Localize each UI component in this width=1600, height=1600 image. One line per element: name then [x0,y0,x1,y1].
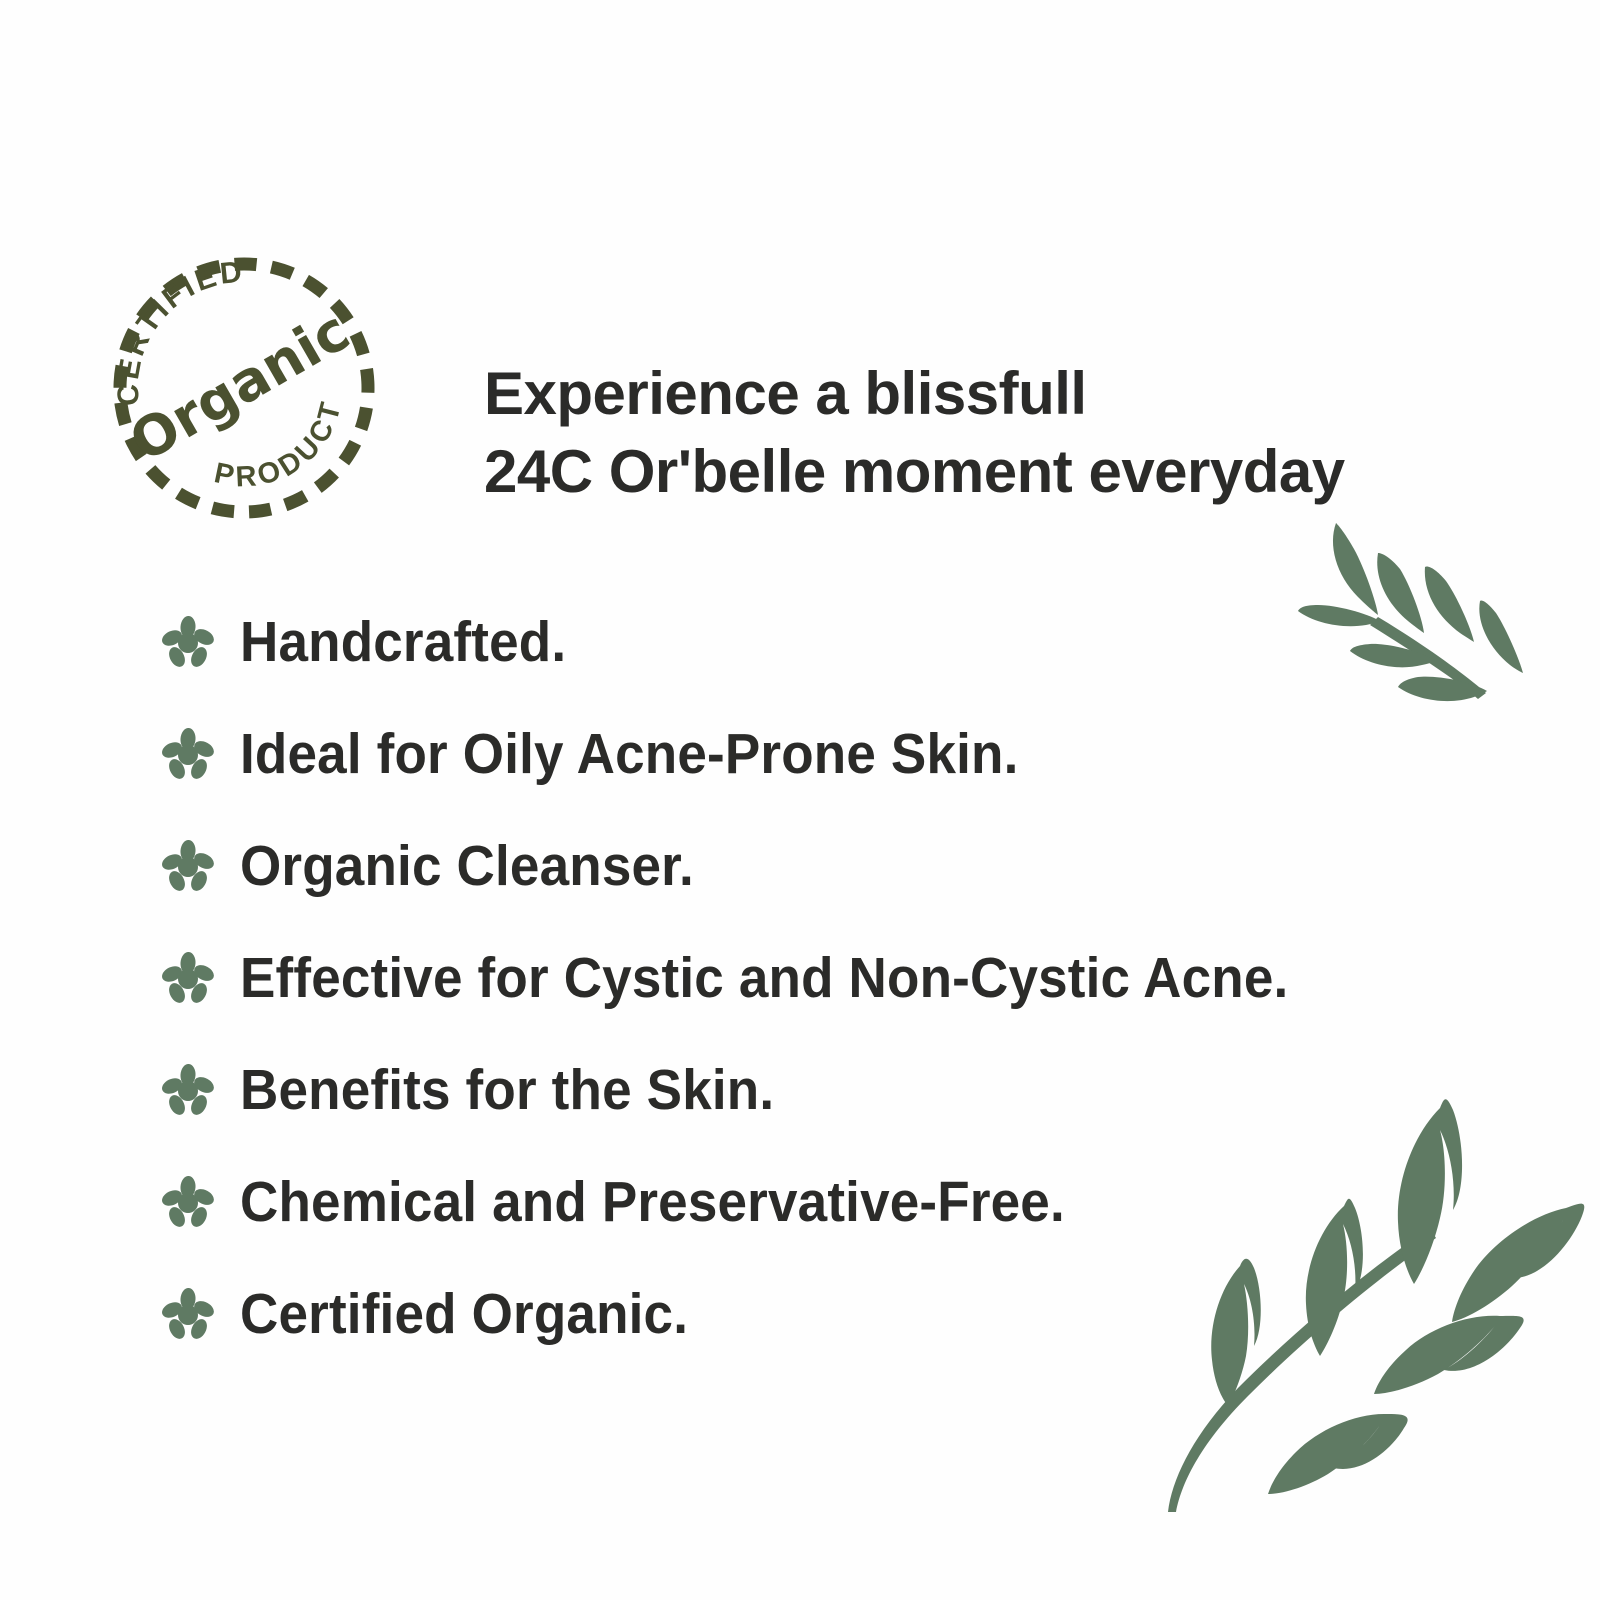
flower-asterisk-icon [162,1176,214,1228]
flower-asterisk-icon [162,840,214,892]
list-item-label: Chemical and Preservative-Free. [240,1172,1065,1232]
flower-asterisk-icon [162,616,214,668]
page-title: Experience a blissfull 24C Or'belle mome… [484,355,1544,511]
list-item-label: Certified Organic. [240,1284,688,1344]
flower-asterisk-icon [162,952,214,1004]
list-item-label: Ideal for Oily Acne-Prone Skin. [240,724,1019,784]
list-item-label: Benefits for the Skin. [240,1060,774,1120]
leaf-branch-bottom-right [1168,1088,1600,1518]
product-benefits-graphic: CERTIFIED PRODUCT Organic Experience a b… [0,0,1600,1600]
flower-asterisk-icon [162,1064,214,1116]
list-item-label: Effective for Cystic and Non-Cystic Acne… [240,948,1288,1008]
headline-line-1: Experience a blissfull [484,355,1544,433]
headline-line-2: 24C Or'belle moment everyday [484,433,1544,511]
list-item-label: Organic Cleanser. [240,836,694,896]
flower-asterisk-icon [162,728,214,780]
flower-asterisk-icon [162,1288,214,1340]
list-item-label: Handcrafted. [240,612,566,672]
certified-organic-badge: CERTIFIED PRODUCT Organic [108,252,380,524]
list-item: Organic Cleanser. [162,810,1502,922]
list-item: Ideal for Oily Acne-Prone Skin. [162,698,1502,810]
list-item: Effective for Cystic and Non-Cystic Acne… [162,922,1502,1034]
leaf-branch-top-right [1258,505,1600,705]
